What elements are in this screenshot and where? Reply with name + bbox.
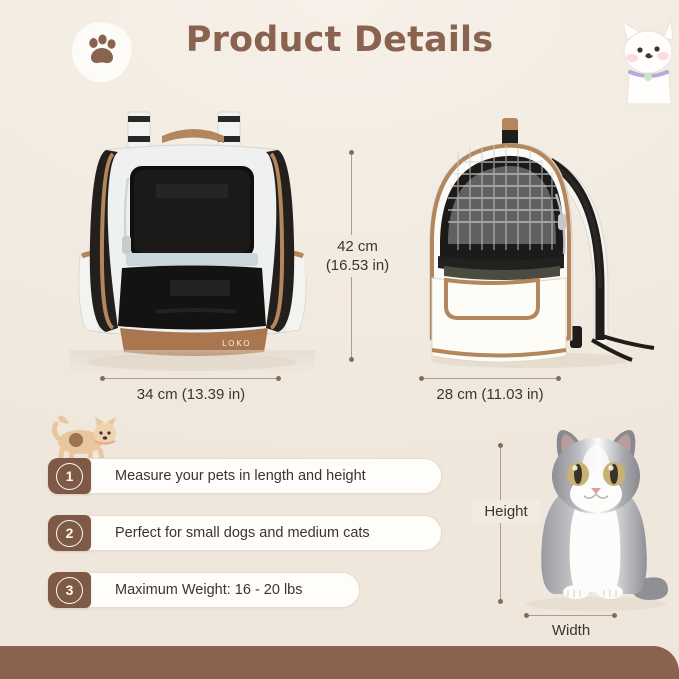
svg-text:LOKO: LOKO [222,339,252,348]
height-dimension-inch: (16.53 in) [326,257,389,274]
feature-number-3: 3 [56,577,83,604]
side-width-dot-right [556,376,561,381]
page-title: Product Details [0,20,679,60]
feature-row-1[interactable]: Measure your pets in length and height 1 [48,458,442,494]
feature-badge-1: 1 [48,458,91,494]
height-dimension-dot-top [349,150,354,155]
front-width-dot-right [276,376,281,381]
footer-bar [0,646,679,679]
feature-text-3: Maximum Weight: 16 - 20 lbs [115,582,303,598]
height-dimension-cm: 42 cm [337,238,378,255]
feature-text-1: Measure your pets in length and height [115,468,366,484]
cat-height-label: Height [472,500,540,523]
cat-height-dot-bottom [498,599,503,604]
feature-number-1: 1 [56,463,83,490]
feature-row-2[interactable]: Perfect for small dogs and medium cats 2 [48,515,442,551]
cat-width-dot-left [524,613,529,618]
height-dimension-label: 42 cm (16.53 in) [304,235,411,277]
feature-pill-1: Measure your pets in length and height [72,458,442,494]
feature-pill-3: Maximum Weight: 16 - 20 lbs [72,572,360,608]
side-width-dot-left [419,376,424,381]
cat-width-label: Width [526,621,616,640]
pet-carrier-backpack-front-view: LOKO [70,104,315,374]
front-width-dimension-line [103,378,279,379]
cat-width-dimension-line [527,615,615,616]
cat-width-dot-right [612,613,617,618]
front-width-label: 34 cm (13.39 in) [96,385,286,404]
feature-row-3[interactable]: Maximum Weight: 16 - 20 lbs 3 [48,572,360,608]
feature-text-2: Perfect for small dogs and medium cats [115,525,370,541]
front-width-dot-left [100,376,105,381]
feature-badge-3: 3 [48,572,91,608]
product-details-infographic: Product Details [0,0,679,679]
side-width-dimension-line [422,378,559,379]
cat-height-dimension-line [500,446,501,602]
white-dog-mascot-icon [613,14,677,106]
side-width-label: 28 cm (11.03 in) [395,385,585,404]
feature-badge-2: 2 [48,515,91,551]
feature-number-2: 2 [56,520,83,547]
feature-pill-2: Perfect for small dogs and medium cats [72,515,442,551]
pet-carrier-backpack-side-view [410,110,660,372]
cat-height-dot-top [498,443,503,448]
height-dimension-dot-bottom [349,357,354,362]
